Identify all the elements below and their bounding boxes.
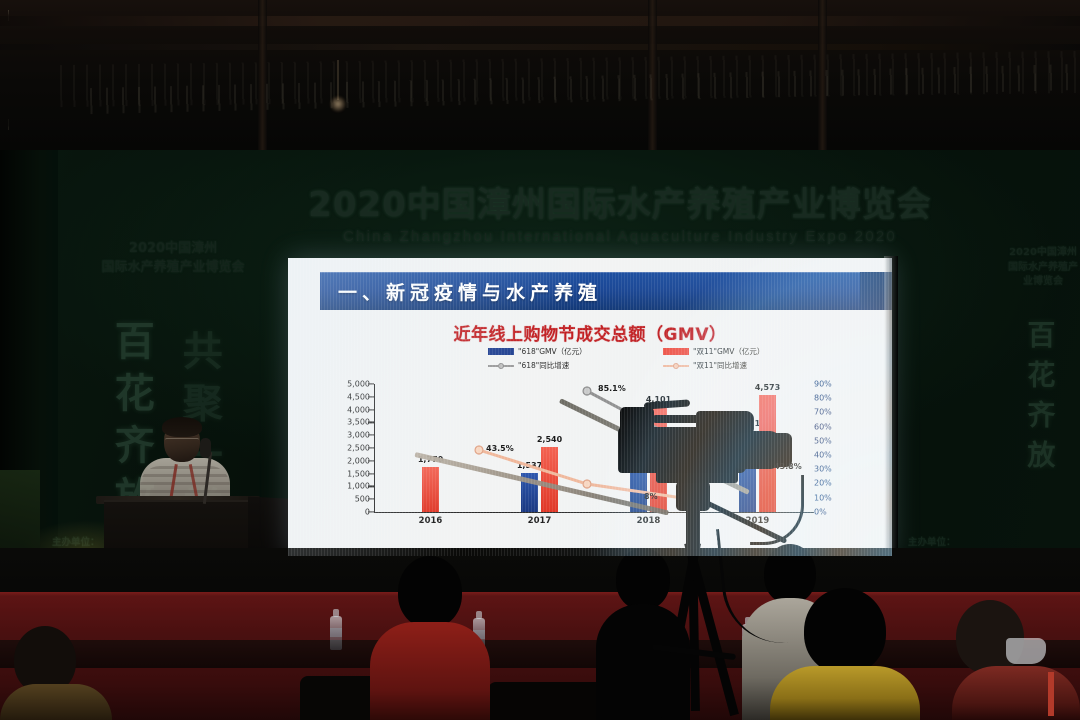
axis-tick [368,486,374,487]
audience-shoulders [952,666,1080,720]
chart-title: 近年线上购物节成交总额（GMV） [288,320,892,345]
legend-label: "双11"GMV（亿元） [693,346,764,357]
axis-tick [368,422,374,423]
legend-item-double11-gmv: "双11"GMV（亿元） [663,346,828,357]
line-point-double11-2017 [475,446,483,454]
presenter-hair [162,417,202,437]
ceiling-beam [0,44,1080,50]
y-axis-left: 5,000 4,500 4,000 3,500 3,000 2,500 2,00… [332,384,370,512]
ceiling-beam [0,16,1080,26]
axis-tick [368,460,374,461]
y-tick: 3,000 [347,431,370,440]
y2-tick: 80% [814,394,832,403]
cable-bundle [8,10,68,130]
audience-head [398,556,462,628]
y-tick: 4,500 [347,392,370,401]
legend-item-618-gmv: "618"GMV（亿元） [488,346,653,357]
y-tick: 5,000 [347,380,370,389]
hanging-lamp-icon [330,96,346,112]
legend-label: "618"同比增速 [518,360,569,371]
side-banner-left: 2020中国漳州 国际水产养殖产业博览会 [78,240,268,278]
axis-tick [368,499,374,500]
axis-tick [368,409,374,410]
axis-tick [368,447,374,448]
axis-tick [368,383,374,384]
legend-swatch-blue [488,348,514,355]
legend-line-peach [663,362,689,369]
microphone-icon [200,438,211,458]
y-tick: 1,500 [347,469,370,478]
audience-shoulders [370,622,490,720]
water-bottle [330,616,342,650]
audience-member [370,556,490,720]
line-point-618-2018 [583,387,591,395]
tripod-head [676,481,710,511]
face-mask-icon [1006,638,1046,664]
axis-tick [368,435,374,436]
line-label-618-growth-2019: 43.8% [774,462,802,471]
axis-tick [368,396,374,397]
calligraphy-right: 百花齐放 [1024,320,1055,480]
legend-label: "双11"同比增速 [693,360,747,371]
y-tick: 1,000 [347,482,370,491]
y-tick: 2,500 [347,444,370,453]
slide-section-header: 一、新冠疫情与水产养殖 [320,272,860,310]
line-label-618-2018: 85.1% [598,384,626,393]
video-camera-rig [600,405,830,720]
y-tick: 3,500 [347,418,370,427]
legend-swatch-red [663,348,689,355]
x-tick-2017: 2017 [492,516,588,526]
x-tick-2016: 2016 [383,516,479,526]
legend-item-double11-growth: "双11"同比增速 [663,360,828,371]
axis-tick [368,473,374,474]
camera-carry-handle [652,415,718,423]
line-point-double11-2018 [583,480,591,488]
lamp-stem [337,60,339,100]
legend-item-618-growth: "618"同比增速 [488,360,653,371]
tripod-column [686,509,700,549]
slide-section-heading-text: 一、新冠疫情与水产养殖 [338,278,602,305]
chart-legend: "618"GMV（亿元） "双11"GMV（亿元） "618"同比增速 "双11… [488,346,828,371]
chair-back [488,682,606,720]
lanyard [1048,672,1054,716]
glasses-icon [165,438,199,445]
side-banner-right: 2020中国漳州 国际水产养殖产业博览会 [1006,246,1080,290]
y-tick: 2,000 [347,456,370,465]
line-label-double11-2017: 43.5% [486,444,514,453]
venue-ceiling [0,0,1080,152]
legend-line-gray [488,362,514,369]
audience-shoulders [0,684,112,720]
audience-member [0,626,112,720]
y2-tick: 90% [814,380,832,389]
camera-viewfinder [620,407,654,431]
camera-cable [716,521,804,648]
legend-label: "618"GMV（亿元） [518,346,587,357]
screen-right-edge [884,256,898,558]
conference-photo: 2020中国漳州国际水产养殖产业博览会 China Zhangzhou Inte… [0,0,1080,720]
camera-body [618,427,746,473]
y-tick: 4,000 [347,405,370,414]
audience-member [952,600,1080,720]
